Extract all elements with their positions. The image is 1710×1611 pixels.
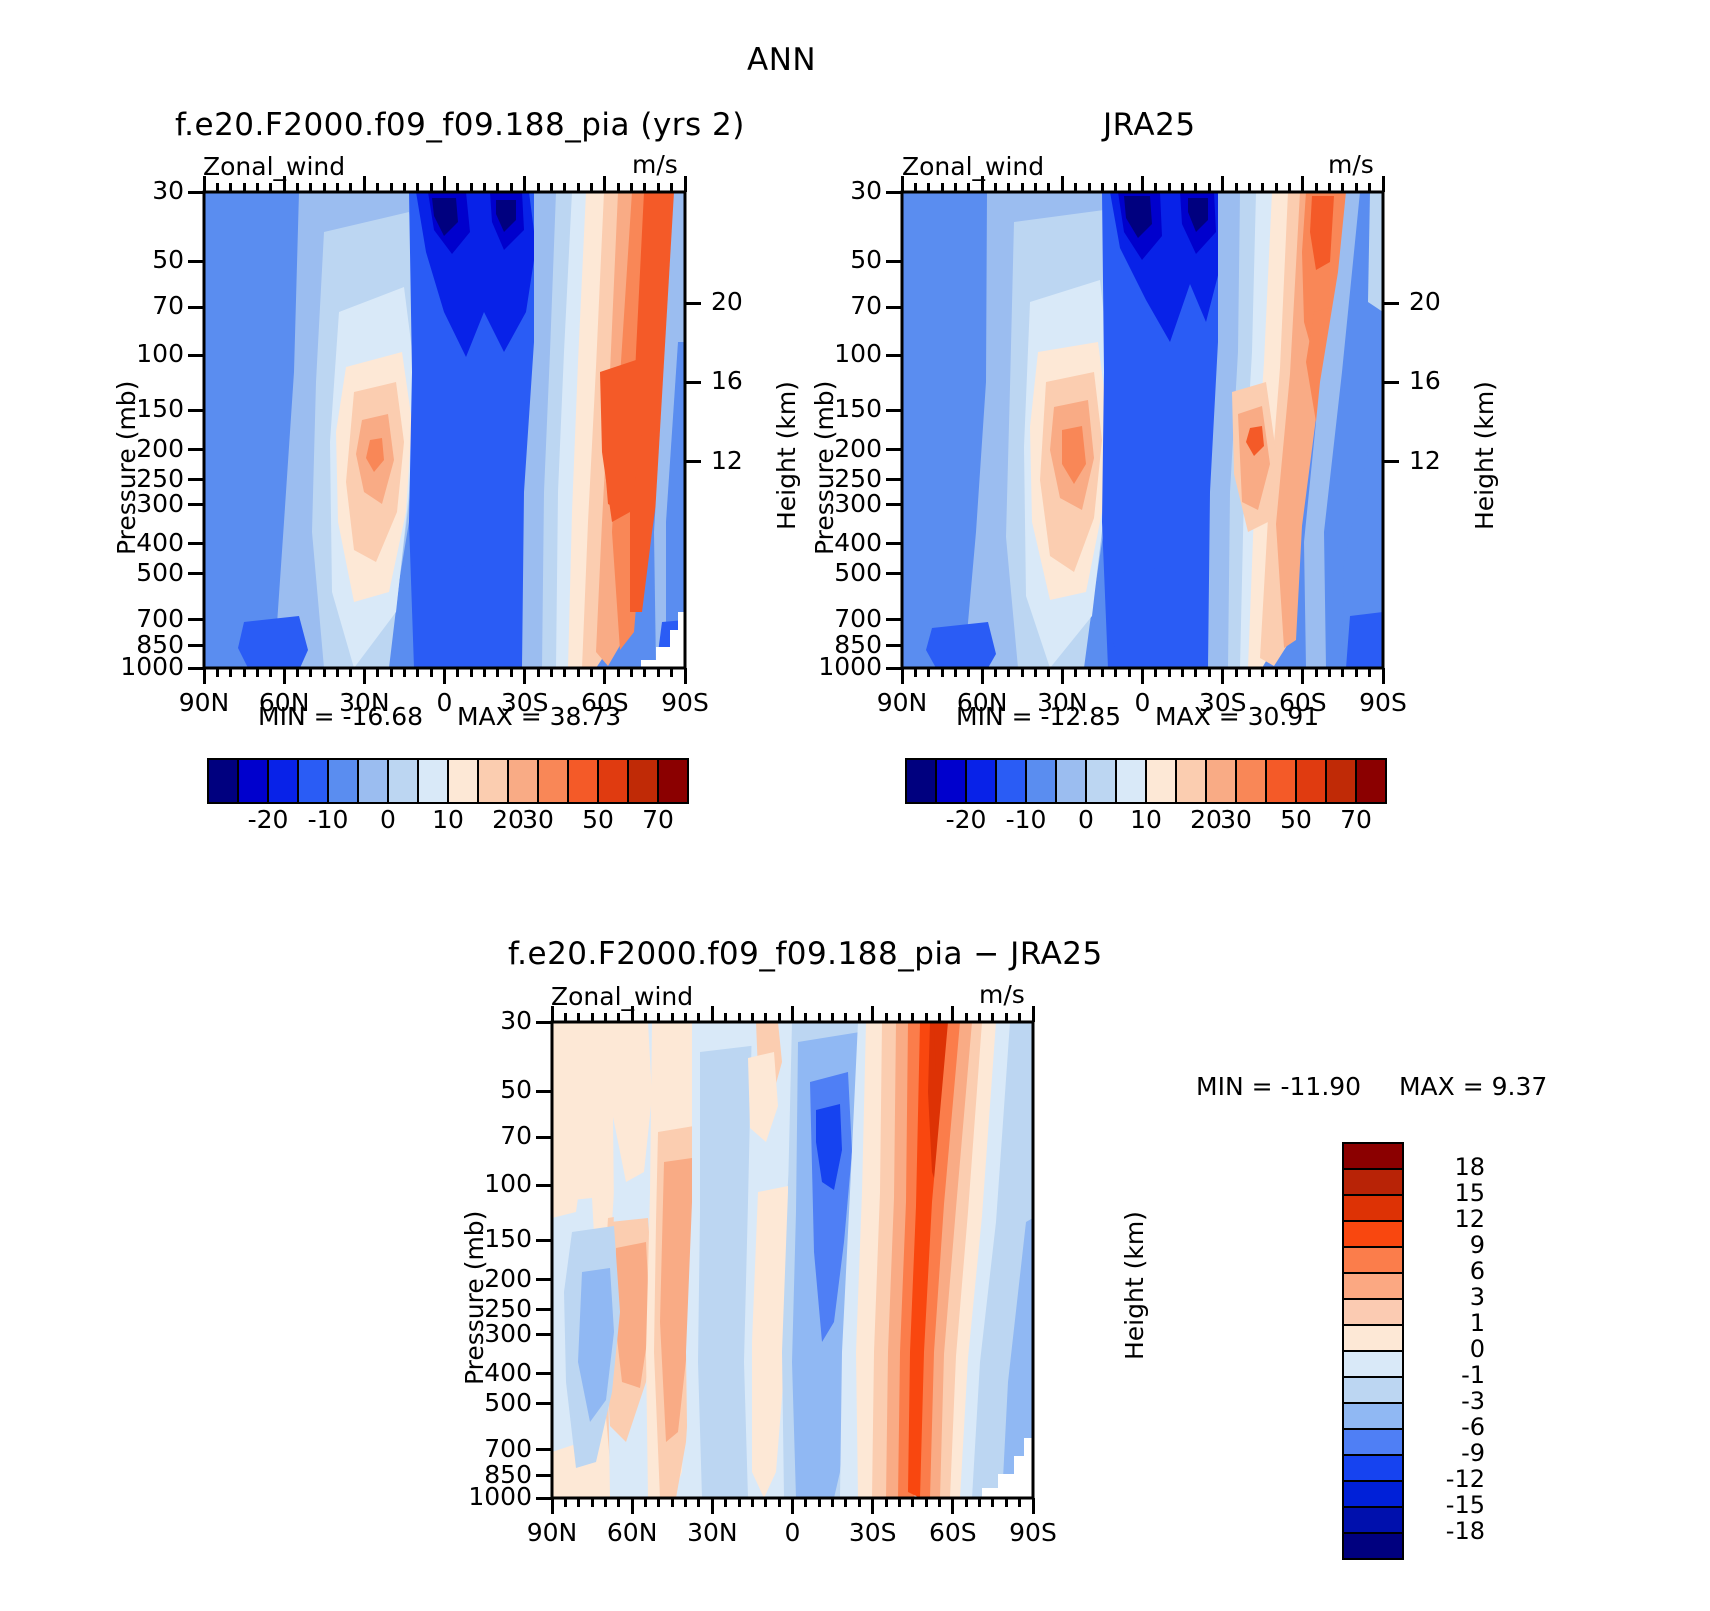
pressure-tick-label: 200 <box>810 434 882 463</box>
lat-minor-tick <box>967 183 970 192</box>
lat-minor-tick <box>1341 183 1344 192</box>
pressure-tick-label: 400 <box>460 1358 532 1387</box>
lat-minor-tick <box>938 1498 941 1507</box>
colorbar-tick-label: 0 <box>1409 1335 1485 1363</box>
lat-tick-mark <box>1061 668 1064 684</box>
lat-minor-tick <box>697 1498 700 1507</box>
lat-tick-mark <box>283 668 286 684</box>
lat-minor-tick <box>643 668 646 677</box>
lat-minor-tick <box>323 183 326 192</box>
lat-minor-tick <box>911 1498 914 1507</box>
lat-minor-tick <box>591 1013 594 1022</box>
lat-minor-tick <box>751 1013 754 1022</box>
pressure-tick-label: 100 <box>112 339 184 368</box>
lat-minor-tick <box>778 1498 781 1507</box>
lat-minor-tick <box>670 668 673 677</box>
lat-minor-tick <box>1034 668 1037 677</box>
lat-minor-tick <box>738 1498 741 1507</box>
pressure-tick-mark <box>188 260 204 263</box>
height-tick-label: 12 <box>1409 446 1441 475</box>
colorbar-tick-label: -3 <box>1409 1387 1485 1415</box>
lat-tick-mark-top <box>981 176 984 192</box>
lat-minor-tick <box>1074 668 1077 677</box>
height-tick-mark <box>1383 302 1399 305</box>
panel-title-obs: JRA25 <box>1103 107 1196 143</box>
pressure-tick-mark <box>536 1239 552 1242</box>
lat-minor-tick <box>644 1013 647 1022</box>
lat-minor-tick <box>1021 668 1024 677</box>
lat-minor-tick <box>269 668 272 677</box>
lat-minor-tick <box>1235 668 1238 677</box>
height-axis-title-difference: Height (km) <box>1120 1211 1149 1360</box>
lat-tick-mark-top <box>1061 176 1064 192</box>
colorbar-obs[interactable] <box>904 757 1388 805</box>
pressure-tick-mark <box>886 260 902 263</box>
variable-label-difference: Zonal_wind <box>551 982 693 1011</box>
lat-tick-mark-top <box>901 176 904 192</box>
pressure-tick-mark <box>188 618 204 621</box>
lat-tick-label: 90N <box>862 688 942 717</box>
lat-minor-tick <box>1355 668 1358 677</box>
lat-minor-tick <box>430 668 433 677</box>
lat-minor-tick <box>1275 183 1278 192</box>
lat-minor-tick <box>1261 183 1264 192</box>
pressure-tick-label: 300 <box>112 489 184 518</box>
pressure-tick-mark <box>536 1136 552 1139</box>
lat-minor-tick <box>831 1013 834 1022</box>
lat-minor-tick <box>577 183 580 192</box>
lat-minor-tick <box>1315 668 1318 677</box>
colorbar-tick-label: -18 <box>1409 1517 1485 1545</box>
lat-minor-tick <box>1047 668 1050 677</box>
lat-tick-mark-top <box>791 1006 794 1022</box>
plot-model <box>204 192 685 668</box>
max-text-obs: MAX = 30.91 <box>1155 702 1319 731</box>
lat-tick-label: 0 <box>753 1518 833 1547</box>
lat-minor-tick <box>470 668 473 677</box>
pressure-tick-mark <box>886 618 902 621</box>
lat-tick-mark <box>1141 668 1144 684</box>
lat-minor-tick <box>430 183 433 192</box>
lat-minor-tick <box>1208 668 1211 677</box>
lat-tick-label: 90N <box>164 688 244 717</box>
lat-minor-tick <box>978 1013 981 1022</box>
lat-minor-tick <box>403 668 406 677</box>
lat-tick-label: 90S <box>645 688 725 717</box>
pressure-tick-label: 30 <box>810 176 882 205</box>
pressure-tick-mark <box>536 1308 552 1311</box>
lat-minor-tick <box>684 1498 687 1507</box>
lat-tick-mark <box>551 1498 554 1514</box>
height-axis-title-model: Height (km) <box>772 381 801 530</box>
lat-minor-tick <box>724 1013 727 1022</box>
lat-tick-mark <box>1032 1498 1035 1514</box>
colorbar-tick-label: 15 <box>1409 1179 1485 1207</box>
lat-minor-tick <box>858 1013 861 1022</box>
lat-minor-tick <box>496 183 499 192</box>
lat-minor-tick <box>563 183 566 192</box>
pressure-tick-label: 700 <box>460 1434 532 1463</box>
lat-minor-tick <box>1315 183 1318 192</box>
pressure-tick-mark <box>188 542 204 545</box>
lat-minor-tick <box>470 183 473 192</box>
lat-minor-tick <box>296 183 299 192</box>
lat-minor-tick <box>764 1013 767 1022</box>
pressure-tick-mark <box>188 306 204 309</box>
pressure-tick-label: 30 <box>112 176 184 205</box>
lat-tick-label: 60S <box>913 1518 993 1547</box>
pressure-tick-label: 150 <box>810 394 882 423</box>
lat-minor-tick <box>954 183 957 192</box>
variable-label-obs: Zonal_wind <box>902 152 1044 181</box>
lat-tick-mark <box>443 668 446 684</box>
lat-minor-tick <box>1128 183 1131 192</box>
pressure-tick-mark <box>188 448 204 451</box>
lat-minor-tick <box>617 183 620 192</box>
min-text-model: MIN = -16.68 <box>258 702 423 731</box>
lat-minor-tick <box>764 1498 767 1507</box>
lat-minor-tick <box>898 1498 901 1507</box>
lat-tick-mark-top <box>443 176 446 192</box>
lat-minor-tick <box>456 668 459 677</box>
lat-minor-tick <box>844 1498 847 1507</box>
lat-tick-mark <box>951 1498 954 1514</box>
plot-obs <box>902 192 1383 668</box>
lat-minor-tick <box>1194 668 1197 677</box>
pressure-tick-mark <box>886 448 902 451</box>
lat-minor-tick <box>1168 668 1171 677</box>
lat-tick-mark-top <box>871 1006 874 1022</box>
lat-tick-label: 60N <box>592 1518 672 1547</box>
lat-minor-tick <box>456 183 459 192</box>
colorbar-model[interactable] <box>206 757 690 805</box>
pressure-tick-label: 500 <box>112 558 184 587</box>
lat-minor-tick <box>738 1013 741 1022</box>
height-tick-label: 16 <box>1409 366 1441 395</box>
panel-title-difference: f.e20.F2000.f09_f09.188_pia − JRA25 <box>508 936 1103 972</box>
lat-minor-tick <box>349 668 352 677</box>
lat-minor-tick <box>577 1498 580 1507</box>
pressure-tick-label: 200 <box>112 434 184 463</box>
variable-label-model: Zonal_wind <box>203 152 345 181</box>
pressure-tick-mark <box>886 306 902 309</box>
pressure-tick-label: 100 <box>460 1169 532 1198</box>
lat-minor-tick <box>991 1013 994 1022</box>
lat-minor-tick <box>617 668 620 677</box>
lat-minor-tick <box>1275 668 1278 677</box>
height-tick-label: 20 <box>1409 287 1441 316</box>
pressure-tick-label: 150 <box>112 394 184 423</box>
lat-minor-tick <box>216 183 219 192</box>
pressure-tick-label: 1000 <box>810 652 882 681</box>
lat-minor-tick <box>938 1013 941 1022</box>
colorbar-tick-label: -15 <box>1409 1491 1485 1519</box>
lat-minor-tick <box>510 183 513 192</box>
pressure-tick-mark <box>536 1090 552 1093</box>
lat-minor-tick <box>1235 183 1238 192</box>
lat-minor-tick <box>643 183 646 192</box>
lat-minor-tick <box>336 183 339 192</box>
pressure-tick-label: 70 <box>810 291 882 320</box>
colorbar-tick-label: 1 <box>1409 1309 1485 1337</box>
lat-minor-tick <box>376 668 379 677</box>
pressure-tick-mark <box>886 503 902 506</box>
lat-minor-tick <box>1074 183 1077 192</box>
height-tick-label: 16 <box>711 366 743 395</box>
min-text-obs: MIN = -12.85 <box>956 702 1121 731</box>
pressure-tick-label: 500 <box>460 1388 532 1417</box>
colorbar-tick-label: -1 <box>1409 1361 1485 1389</box>
lat-tick-mark-top <box>1141 176 1144 192</box>
pressure-tick-mark <box>536 1372 552 1375</box>
colorbar-tick-label: 3 <box>1409 1283 1485 1311</box>
lat-minor-tick <box>630 183 633 192</box>
lat-minor-tick <box>550 183 553 192</box>
lat-minor-tick <box>994 183 997 192</box>
lat-minor-tick <box>323 668 326 677</box>
pressure-tick-mark <box>886 572 902 575</box>
height-tick-label: 20 <box>711 287 743 316</box>
lat-tick-mark-top <box>203 176 206 192</box>
lat-minor-tick <box>1007 668 1010 677</box>
lat-minor-tick <box>925 1013 928 1022</box>
lat-minor-tick <box>1034 183 1037 192</box>
lat-minor-tick <box>818 1498 821 1507</box>
lat-tick-mark <box>684 668 687 684</box>
colorbar-tick-label: -6 <box>1409 1413 1485 1441</box>
colorbar-tick-label: 70 <box>1316 805 1396 834</box>
lat-minor-tick <box>1005 1013 1008 1022</box>
lat-minor-tick <box>1088 183 1091 192</box>
lat-tick-mark-top <box>951 1006 954 1022</box>
lat-tick-mark-top <box>1301 176 1304 192</box>
lat-minor-tick <box>1181 183 1184 192</box>
lat-tick-mark <box>523 668 526 684</box>
lat-tick-mark-top <box>1221 176 1224 192</box>
lat-minor-tick <box>991 1498 994 1507</box>
height-tick-mark <box>685 381 701 384</box>
lat-tick-mark <box>631 1498 634 1514</box>
lat-minor-tick <box>657 668 660 677</box>
pressure-tick-label: 300 <box>460 1319 532 1348</box>
colorbar-tick-label: 70 <box>618 805 698 834</box>
pressure-tick-mark <box>536 1333 552 1336</box>
lat-minor-tick <box>1021 183 1024 192</box>
colorbar-tick-label: 12 <box>1409 1205 1485 1233</box>
minmax-model: MIN = -16.68 MAX = 38.73 <box>258 702 621 731</box>
pressure-tick-label: 100 <box>810 339 882 368</box>
lat-minor-tick <box>229 183 232 192</box>
plot-difference <box>552 1022 1033 1498</box>
pressure-tick-label: 200 <box>460 1264 532 1293</box>
pressure-tick-label: 700 <box>810 604 882 633</box>
colorbar-tick-label: 18 <box>1409 1153 1485 1181</box>
lat-minor-tick <box>967 668 970 677</box>
lat-minor-tick <box>309 183 312 192</box>
pressure-tick-mark <box>886 478 902 481</box>
lat-minor-tick <box>1355 183 1358 192</box>
lat-minor-tick <box>376 183 379 192</box>
lat-minor-tick <box>416 183 419 192</box>
lat-minor-tick <box>1288 183 1291 192</box>
lat-tick-mark <box>901 668 904 684</box>
pressure-tick-label: 70 <box>460 1121 532 1150</box>
lat-minor-tick <box>269 183 272 192</box>
lat-minor-tick <box>390 183 393 192</box>
pressure-tick-mark <box>188 503 204 506</box>
lat-minor-tick <box>885 1013 888 1022</box>
lat-tick-mark <box>1301 668 1304 684</box>
lat-minor-tick <box>914 183 917 192</box>
lat-minor-tick <box>537 183 540 192</box>
lat-minor-tick <box>1018 1013 1021 1022</box>
lat-minor-tick <box>483 183 486 192</box>
pressure-tick-label: 1000 <box>112 652 184 681</box>
pressure-tick-mark <box>536 1402 552 1405</box>
lat-minor-tick <box>1088 668 1091 677</box>
lat-tick-mark-top <box>684 176 687 192</box>
lat-minor-tick <box>925 1498 928 1507</box>
lat-minor-tick <box>564 1498 567 1507</box>
lat-minor-tick <box>965 1498 968 1507</box>
lat-minor-tick <box>1181 668 1184 677</box>
lat-minor-tick <box>804 1498 807 1507</box>
lat-minor-tick <box>724 1498 727 1507</box>
pressure-tick-label: 1000 <box>460 1482 532 1511</box>
max-text-model: MAX = 38.73 <box>457 702 621 731</box>
lat-tick-mark <box>791 1498 794 1514</box>
height-axis-title-obs: Height (km) <box>1470 381 1499 530</box>
lat-tick-label: 90S <box>993 1518 1073 1547</box>
lat-minor-tick <box>590 668 593 677</box>
pressure-tick-mark <box>536 1448 552 1451</box>
lat-tick-mark <box>1382 668 1385 684</box>
lat-minor-tick <box>831 1498 834 1507</box>
pressure-tick-mark <box>536 1184 552 1187</box>
units-label-obs: m/s <box>1328 150 1374 179</box>
panel-title-model: f.e20.F2000.f09_f09.188_pia (yrs 2) <box>175 107 745 143</box>
lat-minor-tick <box>1194 183 1197 192</box>
lat-minor-tick <box>671 1013 674 1022</box>
lat-minor-tick <box>483 668 486 677</box>
lat-minor-tick <box>1005 1498 1008 1507</box>
pressure-tick-mark <box>188 354 204 357</box>
lat-tick-mark-top <box>711 1006 714 1022</box>
lat-minor-tick <box>644 1498 647 1507</box>
pressure-tick-label: 400 <box>112 528 184 557</box>
lat-minor-tick <box>1168 183 1171 192</box>
lat-minor-tick <box>243 668 246 677</box>
lat-minor-tick <box>657 1498 660 1507</box>
pressure-tick-mark <box>886 409 902 412</box>
pressure-tick-label: 700 <box>112 604 184 633</box>
lat-minor-tick <box>229 668 232 677</box>
lat-minor-tick <box>657 1013 660 1022</box>
lat-tick-mark <box>363 668 366 684</box>
lat-minor-tick <box>243 183 246 192</box>
pressure-tick-label: 150 <box>460 1224 532 1253</box>
pressure-tick-mark <box>188 409 204 412</box>
lat-minor-tick <box>804 1013 807 1022</box>
lat-tick-mark-top <box>283 176 286 192</box>
lat-minor-tick <box>577 1013 580 1022</box>
lat-tick-mark <box>981 668 984 684</box>
lat-minor-tick <box>927 183 930 192</box>
minmax-obs: MIN = -12.85 MAX = 30.91 <box>956 702 1319 731</box>
lat-tick-mark <box>603 668 606 684</box>
lat-minor-tick <box>657 183 660 192</box>
lat-tick-mark-top <box>523 176 526 192</box>
colorbar-difference[interactable] <box>1341 1141 1405 1561</box>
lat-minor-tick <box>216 668 219 677</box>
height-tick-mark <box>685 460 701 463</box>
pressure-tick-label: 70 <box>112 291 184 320</box>
lat-minor-tick <box>1047 183 1050 192</box>
lat-minor-tick <box>604 1498 607 1507</box>
lat-tick-label: 90S <box>1343 688 1423 717</box>
lat-minor-tick <box>670 183 673 192</box>
lat-minor-tick <box>911 1013 914 1022</box>
lat-minor-tick <box>1341 668 1344 677</box>
height-tick-mark <box>685 302 701 305</box>
lat-minor-tick <box>1248 183 1251 192</box>
lat-minor-tick <box>563 668 566 677</box>
lat-tick-label: 30S <box>833 1518 913 1547</box>
lat-minor-tick <box>590 183 593 192</box>
pressure-tick-mark <box>188 572 204 575</box>
lat-minor-tick <box>403 183 406 192</box>
lat-minor-tick <box>349 183 352 192</box>
pressure-tick-mark <box>188 644 204 647</box>
lat-minor-tick <box>510 668 513 677</box>
lat-minor-tick <box>697 1013 700 1022</box>
colorbar-tick-label: 6 <box>1409 1257 1485 1285</box>
lat-minor-tick <box>844 1013 847 1022</box>
lat-minor-tick <box>671 1498 674 1507</box>
height-tick-mark <box>1383 460 1399 463</box>
units-label-model: m/s <box>632 150 678 179</box>
lat-minor-tick <box>885 1498 888 1507</box>
lat-minor-tick <box>941 183 944 192</box>
pressure-tick-label: 50 <box>810 245 882 274</box>
lat-minor-tick <box>1007 183 1010 192</box>
lat-minor-tick <box>1154 183 1157 192</box>
lat-minor-tick <box>309 668 312 677</box>
lat-minor-tick <box>1248 668 1251 677</box>
lat-tick-mark <box>711 1498 714 1514</box>
lat-minor-tick <box>1101 183 1104 192</box>
minmax-difference: MIN = -11.90 MAX = 9.37 <box>1196 1072 1547 1101</box>
lat-minor-tick <box>898 1013 901 1022</box>
lat-minor-tick <box>914 668 917 677</box>
lat-tick-label: 90N <box>512 1518 592 1547</box>
min-text-difference: MIN = -11.90 <box>1196 1072 1361 1101</box>
lat-minor-tick <box>256 668 259 677</box>
height-tick-mark <box>1383 381 1399 384</box>
pressure-tick-label: 50 <box>460 1075 532 1104</box>
lat-minor-tick <box>1261 668 1264 677</box>
height-tick-label: 12 <box>711 446 743 475</box>
lat-minor-tick <box>1208 183 1211 192</box>
lat-minor-tick <box>630 668 633 677</box>
lat-tick-mark <box>203 668 206 684</box>
lat-minor-tick <box>818 1013 821 1022</box>
lat-minor-tick <box>858 1498 861 1507</box>
max-text-difference: MAX = 9.37 <box>1399 1072 1547 1101</box>
lat-minor-tick <box>1154 668 1157 677</box>
lat-minor-tick <box>1368 668 1371 677</box>
lat-minor-tick <box>751 1498 754 1507</box>
